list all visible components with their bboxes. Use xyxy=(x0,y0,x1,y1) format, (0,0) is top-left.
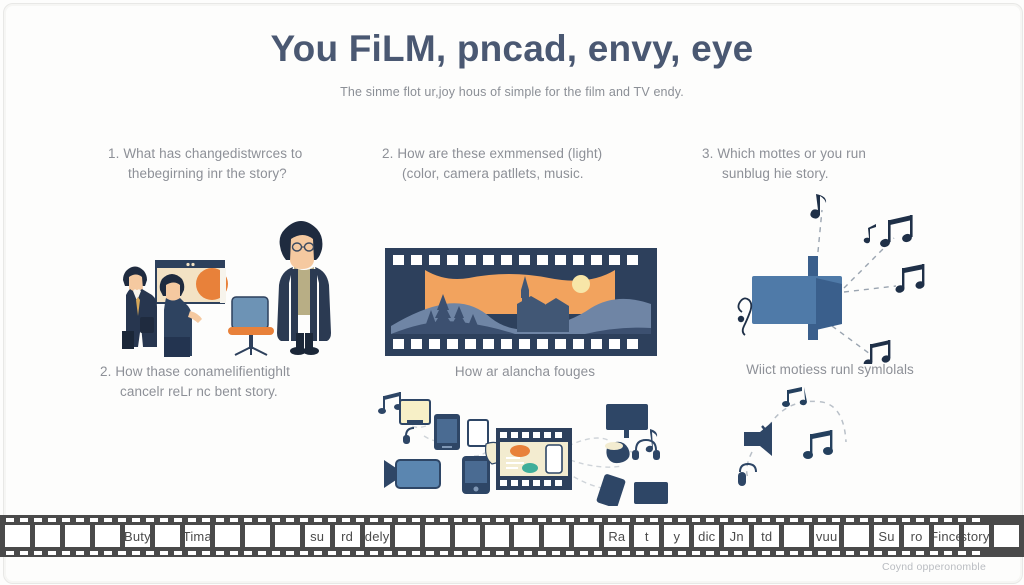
filmstrip-perforation xyxy=(692,551,700,555)
filmstrip-frame: Tima xyxy=(184,524,211,548)
filmstrip-perforation xyxy=(132,518,140,522)
filmstrip-perforation xyxy=(20,551,28,555)
filmstrip-perforation xyxy=(552,518,560,522)
illustration-speaker-notes-arc xyxy=(700,386,982,496)
filmstrip-perforation xyxy=(832,518,840,522)
filmstrip-perforation xyxy=(972,551,980,555)
filmstrip-frame xyxy=(34,524,61,548)
office-chair-icon xyxy=(228,297,274,355)
filmstrip-perforation xyxy=(552,551,560,555)
filmstrip-perforation xyxy=(104,518,112,522)
filmstrip-perforation xyxy=(314,518,322,522)
filmstrip-perforation xyxy=(930,551,938,555)
filmstrip-perforation xyxy=(48,551,56,555)
filmstrip-frame xyxy=(543,524,570,548)
filmstrip-perforation xyxy=(272,551,280,555)
filmstrip-perforation xyxy=(566,518,574,522)
filmstrip-perforation xyxy=(342,518,350,522)
filmstrip-perforation xyxy=(580,551,588,555)
filmstrip-perforation xyxy=(62,518,70,522)
filmstrip-frame xyxy=(94,524,121,548)
filmstrip-perforation xyxy=(664,518,672,522)
filmstrip-perforation xyxy=(692,518,700,522)
question-number: 1. xyxy=(108,146,119,161)
filmstrip-frame xyxy=(484,524,511,548)
filmstrip-perforation xyxy=(594,518,602,522)
filmstrip-perforation xyxy=(566,551,574,555)
tablet-outline-icon xyxy=(468,420,488,446)
filmstrip-perforation xyxy=(90,551,98,555)
filmstrip-frame xyxy=(513,524,540,548)
question-number: 2. xyxy=(382,146,393,161)
illustration-film-frame-landscape xyxy=(385,248,657,356)
tablet-navy-icon xyxy=(434,414,460,450)
filmstrip-perforation xyxy=(244,518,252,522)
filmstrip-perforation xyxy=(384,518,392,522)
caption-right: Wiict motiess runl symlolals xyxy=(680,362,980,377)
filmstrip-perforation xyxy=(216,551,224,555)
filmstrip-perforation xyxy=(230,551,238,555)
filmstrip-perforation xyxy=(454,518,462,522)
filmstrip-perforation xyxy=(76,518,84,522)
filmstrip-perforation xyxy=(510,551,518,555)
filmstrip-perforation xyxy=(48,518,56,522)
filmstrip-frame: storyl xyxy=(963,524,990,548)
screen-yellow-icon xyxy=(400,400,430,424)
filmstrip-perforation xyxy=(426,518,434,522)
filmstrip-perforation xyxy=(720,551,728,555)
filmstrip-perforation xyxy=(636,551,644,555)
illustration-media-devices-network xyxy=(378,388,670,506)
filmstrip-perforation xyxy=(706,551,714,555)
filmstrip-perforation xyxy=(538,551,546,555)
person-coat-icon xyxy=(277,221,331,355)
filmstrip-perforations-top xyxy=(0,515,1024,524)
filmstrip-perforation xyxy=(20,518,28,522)
filmstrip-perforation xyxy=(370,518,378,522)
filmstrip-perforation xyxy=(846,518,854,522)
filmstrip-frame xyxy=(64,524,91,548)
filmstrip-perforation xyxy=(482,518,490,522)
filmstrip-perforation xyxy=(202,551,210,555)
filmstrip-frame: Buty xyxy=(124,524,151,548)
filmstrip-perforation xyxy=(468,551,476,555)
headphone-icon xyxy=(404,428,414,443)
camera-lens-icon xyxy=(605,442,630,463)
filmstrip-perforation xyxy=(132,551,140,555)
filmstrip-frame xyxy=(214,524,241,548)
filmstrip-perforation xyxy=(874,518,882,522)
speaker-small-icon xyxy=(744,422,772,456)
filmstrip-frame: dic xyxy=(693,524,720,548)
filmstrip-perforation xyxy=(454,551,462,555)
filmstrip-perforation xyxy=(34,518,42,522)
filmstrip-perforation xyxy=(706,518,714,522)
question-line-2: (color, camera patllets, music. xyxy=(382,164,650,185)
filmstrip-perforation xyxy=(664,551,672,555)
filmstrip-frame xyxy=(993,524,1020,548)
filmstrip-perforation xyxy=(804,551,812,555)
filmstrip-frame xyxy=(454,524,481,548)
footer-note: Coynd opperonomble xyxy=(882,561,986,573)
filmstrip-perforation xyxy=(804,518,812,522)
filmstrip-frame: Ra xyxy=(603,524,630,548)
filmstrip-perforation xyxy=(622,551,630,555)
filmstrip-frame: vuu xyxy=(813,524,840,548)
filmstrip-perforation xyxy=(622,518,630,522)
question-line-1: Which mottes or you run xyxy=(717,146,866,161)
question-number: 2. xyxy=(100,364,111,379)
filmstrip-perforation xyxy=(90,518,98,522)
filmstrip-perforation xyxy=(720,518,728,522)
filmstrip-perforation xyxy=(818,518,826,522)
filmstrip-perforation xyxy=(286,551,294,555)
filmstrip-frame xyxy=(394,524,421,548)
page-title: You FiLM, pncad, envy, eye xyxy=(0,28,1024,71)
monitor-navy-icon xyxy=(606,404,648,438)
filmstrip-perforation xyxy=(650,551,658,555)
filmstrip-perforation xyxy=(160,551,168,555)
caption-center: How ar alancha fouges xyxy=(380,364,670,379)
filmstrip-perforation xyxy=(426,551,434,555)
filmstrip-perforation xyxy=(440,551,448,555)
filmstrip-frame xyxy=(573,524,600,548)
filmstrip-perforation xyxy=(398,518,406,522)
filmstrip-perforation xyxy=(888,518,896,522)
music-note-icon-small xyxy=(378,392,402,414)
filmstrip-perforation xyxy=(790,551,798,555)
filmstrip-perforation xyxy=(930,518,938,522)
filmstrip-perforation xyxy=(734,551,742,555)
filmstrip-perforation xyxy=(286,518,294,522)
filmstrip-perforation xyxy=(6,551,14,555)
filmstrip-perforation xyxy=(258,551,266,555)
filmstrip-perforation xyxy=(790,518,798,522)
filmstrip-frame: td xyxy=(753,524,780,548)
filmstrip-perforation xyxy=(916,518,924,522)
filmstrip-perforation xyxy=(76,551,84,555)
filmstrip-perforation xyxy=(762,518,770,522)
question-line-2: thebegirning inr the story? xyxy=(108,164,358,185)
filmstrip-perforation xyxy=(972,518,980,522)
question-line-1: How thase conamelifientighlt xyxy=(115,364,290,379)
filmstrip-perforation xyxy=(370,551,378,555)
filmstrip-perforation xyxy=(608,551,616,555)
filmstrip-frame: t xyxy=(633,524,660,548)
filmstrip-perforation xyxy=(860,518,868,522)
filmstrip-frame: rd xyxy=(334,524,361,548)
filmstrip-perforation xyxy=(328,518,336,522)
monitor-small-icon xyxy=(634,482,668,504)
speaker-icon xyxy=(752,256,842,340)
question-number: 3. xyxy=(702,146,713,161)
filmstrip-perforation xyxy=(580,518,588,522)
filmstrip-perforation xyxy=(944,518,952,522)
filmstrip-perforation xyxy=(440,518,448,522)
filmstrip-perforation xyxy=(748,551,756,555)
filmstrip-frame xyxy=(4,524,31,548)
filmstrip-perforation xyxy=(678,518,686,522)
filmstrip-perforation xyxy=(328,551,336,555)
illustration-people-presentation xyxy=(100,205,365,357)
filmstrip-perforation xyxy=(636,518,644,522)
filmstrip-perforation xyxy=(146,518,154,522)
filmstrip-perforation xyxy=(188,518,196,522)
filmstrip-perforation xyxy=(748,518,756,522)
filmstrip-perforation xyxy=(34,551,42,555)
treble-clef-icon xyxy=(738,298,751,335)
filmstrip-perforation xyxy=(300,551,308,555)
filmstrip-perforation xyxy=(916,551,924,555)
question-line-1: What has changedistwrces to xyxy=(123,146,302,161)
filmstrip-perforation xyxy=(62,551,70,555)
filmstrip-perforation xyxy=(776,551,784,555)
music-note-icons-arc xyxy=(782,387,833,459)
filmstrip-frame xyxy=(843,524,870,548)
filmstrip-perforation xyxy=(776,518,784,522)
filmstrip-perforation xyxy=(412,518,420,522)
filmstrip-perforation xyxy=(874,551,882,555)
filmstrip-frame xyxy=(154,524,181,548)
question-line-2: sunblug hie story. xyxy=(702,164,948,185)
video-camera-icon xyxy=(384,460,440,488)
question-block-4: 2. How thase conamelifientighlt cancelr … xyxy=(100,362,352,403)
filmstrip-perforation xyxy=(230,518,238,522)
filmstrip-perforation xyxy=(244,551,252,555)
filmstrip-frames: ButyTimasurddelyRatydicJntdvuuSuroFinces… xyxy=(0,524,1024,548)
filmstrip-frame: Fince xyxy=(933,524,960,548)
film-frame-center-icon xyxy=(496,428,572,490)
question-block-1: 1. What has changedistwrces to thebegirn… xyxy=(108,144,358,185)
filmstrip-perforation xyxy=(846,551,854,555)
filmstrip-frame: Jn xyxy=(723,524,750,548)
filmstrip-perforation xyxy=(538,518,546,522)
filmstrip-perforation xyxy=(524,518,532,522)
filmstrip-perforation xyxy=(608,518,616,522)
filmstrip-perforation xyxy=(146,551,154,555)
phone-navy-icon xyxy=(462,456,490,494)
filmstrip-perforation xyxy=(594,551,602,555)
filmstrip-perforation xyxy=(174,551,182,555)
filmstrip-perforation xyxy=(902,551,910,555)
filmstrip-perforation xyxy=(650,518,658,522)
filmstrip-frame xyxy=(274,524,301,548)
filmstrip-perforation xyxy=(272,518,280,522)
filmstrip-perforation xyxy=(412,551,420,555)
phone-tilted-icon xyxy=(596,473,626,506)
filmstrip-perforation xyxy=(860,551,868,555)
header: You FiLM, pncad, envy, eye The sinme flo… xyxy=(0,28,1024,99)
filmstrip-perforation xyxy=(510,518,518,522)
filmstrip-frame xyxy=(424,524,451,548)
filmstrip-frame xyxy=(783,524,810,548)
bottom-filmstrip: ButyTimasurddelyRatydicJntdvuuSuroFinces… xyxy=(0,515,1024,557)
filmstrip-perforation xyxy=(496,551,504,555)
filmstrip-perforation xyxy=(6,518,14,522)
filmstrip-perforation xyxy=(944,551,952,555)
filmstrip-perforation xyxy=(762,551,770,555)
question-line-2: cancelr reLr nc bent story. xyxy=(100,382,352,403)
filmstrip-perforation xyxy=(356,518,364,522)
filmstrip-perforation xyxy=(958,518,966,522)
filmstrip-perforation xyxy=(678,551,686,555)
person-man-icon xyxy=(122,267,157,350)
filmstrip-perforation xyxy=(818,551,826,555)
filmstrip-perforation xyxy=(832,551,840,555)
filmstrip-perforation xyxy=(314,551,322,555)
filmstrip-perforation xyxy=(188,551,196,555)
landscape-scene xyxy=(391,270,651,338)
question-block-3: 3. Which mottes or you run sunblug hie s… xyxy=(702,144,948,185)
infographic-page: You FiLM, pncad, envy, eye The sinme flo… xyxy=(0,0,1024,585)
filmstrip-perforation xyxy=(104,551,112,555)
filmstrip-frame: Su xyxy=(873,524,900,548)
filmstrip-perforation xyxy=(482,551,490,555)
filmstrip-frame: y xyxy=(663,524,690,548)
filmstrip-perforation xyxy=(258,518,266,522)
filmstrip-perforation xyxy=(496,518,504,522)
filmstrip-perforation xyxy=(202,518,210,522)
illustration-speaker-music-notes xyxy=(682,192,982,364)
filmstrip-perforation xyxy=(468,518,476,522)
filmstrip-perforation xyxy=(524,551,532,555)
filmstrip-perforation xyxy=(902,518,910,522)
filmstrip-perforations-bottom xyxy=(0,548,1024,557)
filmstrip-perforation xyxy=(300,518,308,522)
filmstrip-perforation xyxy=(958,551,966,555)
page-subtitle: The sinme flot ur,joy hous of simple for… xyxy=(0,85,1024,99)
filmstrip-frame: dely xyxy=(364,524,391,548)
question-block-2: 2. How are these exmmensed (light) (colo… xyxy=(382,144,650,185)
filmstrip-perforation xyxy=(888,551,896,555)
filmstrip-perforation xyxy=(384,551,392,555)
filmstrip-perforation xyxy=(398,551,406,555)
filmstrip-frame xyxy=(244,524,271,548)
filmstrip-perforation xyxy=(174,518,182,522)
filmstrip-frame: ro xyxy=(903,524,930,548)
filmstrip-frame: su xyxy=(304,524,331,548)
filmstrip-perforation xyxy=(356,551,364,555)
question-line-1: How are these exmmensed (light) xyxy=(397,146,602,161)
filmstrip-perforation xyxy=(342,551,350,555)
filmstrip-perforation xyxy=(118,518,126,522)
filmstrip-perforation xyxy=(160,518,168,522)
filmstrip-perforation xyxy=(118,551,126,555)
filmstrip-perforation xyxy=(734,518,742,522)
filmstrip-perforation xyxy=(216,518,224,522)
